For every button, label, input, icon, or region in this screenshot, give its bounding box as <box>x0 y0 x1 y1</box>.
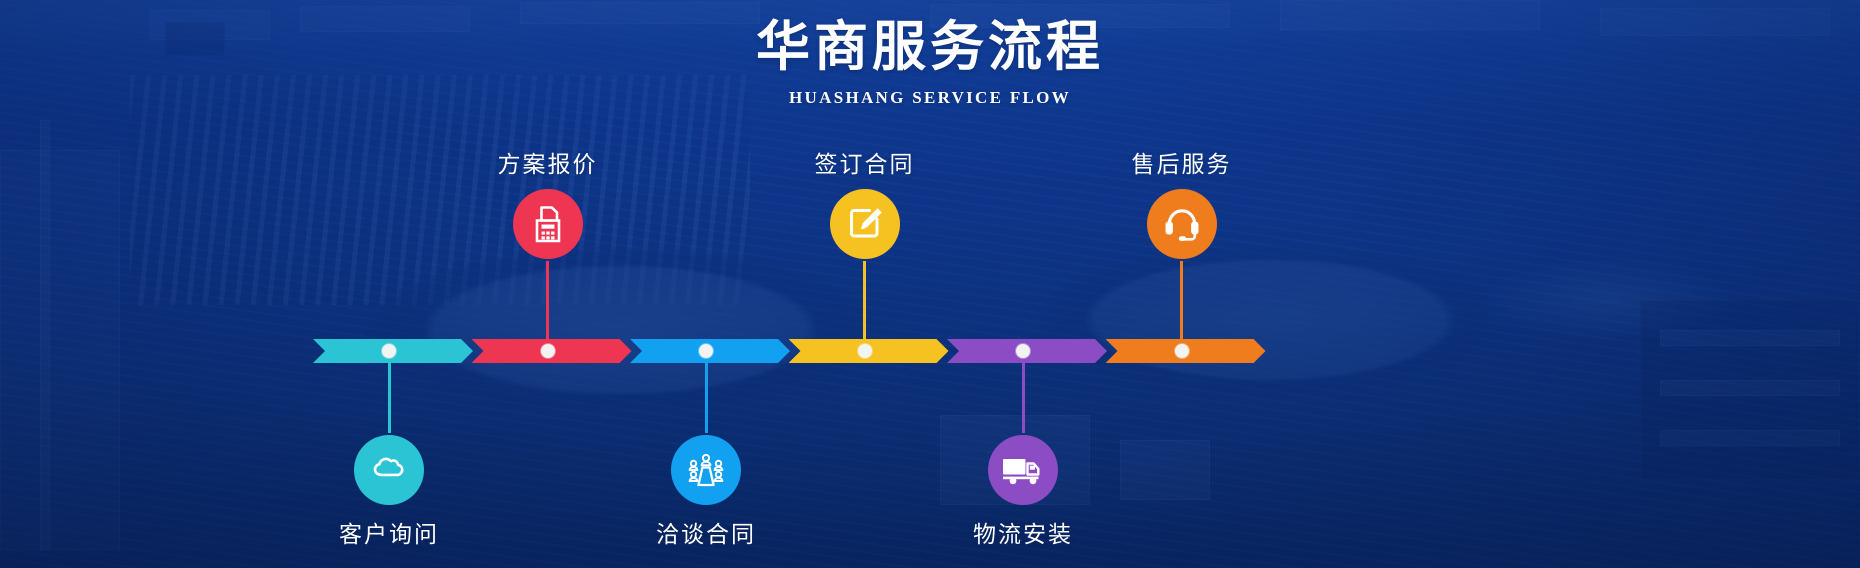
flow-step-label-4: 签订合同 <box>735 145 995 179</box>
page-subtitle: HUASHANG SERVICE FLOW <box>0 88 1860 108</box>
flow-step-dot-1 <box>382 344 396 358</box>
headset-support-icon-bubble[interactable] <box>1147 189 1217 259</box>
flow-step-label-3: 洽谈合同 <box>576 515 836 549</box>
chat-bubble-icon-bubble[interactable] <box>354 435 424 505</box>
flow-step-label-2: 方案报价 <box>418 145 678 179</box>
page-title: 华商服务流程 <box>0 18 1860 76</box>
banner-header: 华商服务流程 HUASHANG SERVICE FLOW <box>0 18 1860 108</box>
service-flow-banner: 华商服务流程 HUASHANG SERVICE FLOW 客户询问方案报价洽谈合… <box>0 0 1860 568</box>
flow-step-dot-3 <box>699 344 713 358</box>
flow-step-dot-5 <box>1016 344 1030 358</box>
headset-support-icon <box>1161 203 1203 245</box>
flow-connector-line-6 <box>1180 261 1183 351</box>
flow-connector-line-5 <box>1022 351 1025 433</box>
flow-step-dot-4 <box>858 344 872 358</box>
flow-connector-line-3 <box>705 351 708 433</box>
meeting-table-icon <box>685 450 727 490</box>
delivery-truck-icon-bubble[interactable] <box>988 435 1058 505</box>
calculator-quote-icon-bubble[interactable] <box>513 189 583 259</box>
flow-step-dot-2 <box>541 344 555 358</box>
flow-arrow-bar <box>313 339 1265 363</box>
meeting-table-icon-bubble[interactable] <box>671 435 741 505</box>
delivery-truck-icon <box>1000 452 1046 488</box>
flow-connector-line-2 <box>546 261 549 351</box>
flow-step-label-6: 售后服务 <box>1052 145 1312 179</box>
flow-connector-line-1 <box>388 351 391 433</box>
flow-step-label-1: 客户询问 <box>259 515 519 549</box>
flow-step-label-5: 物流安装 <box>893 515 1153 549</box>
flow-step-dot-6 <box>1175 344 1189 358</box>
chat-bubble-icon <box>369 450 409 490</box>
sign-contract-pencil-icon-bubble[interactable] <box>830 189 900 259</box>
sign-contract-pencil-icon <box>844 203 886 245</box>
calculator-quote-icon <box>528 202 568 246</box>
flow-connector-line-4 <box>863 261 866 351</box>
